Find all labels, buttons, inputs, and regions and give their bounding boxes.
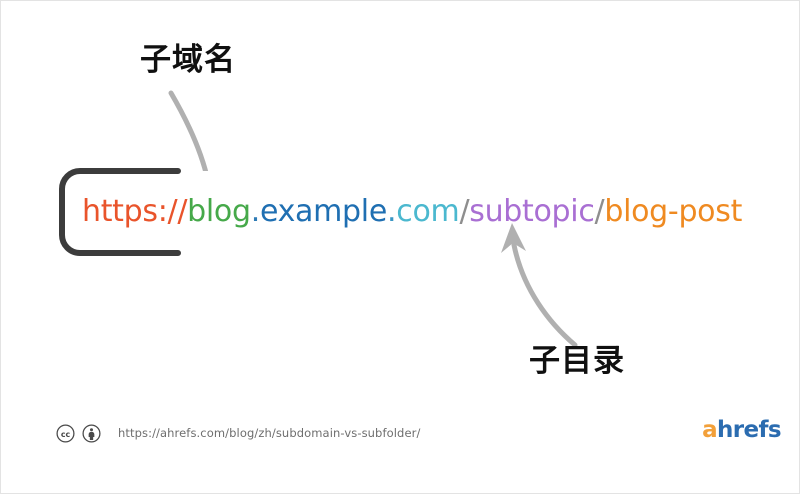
url-segment-subfolder: subtopic (469, 194, 594, 229)
url-segment-page: blog-post (604, 194, 742, 229)
url-segment-dot-1: . (251, 194, 260, 229)
url-segment-tld: com (396, 194, 459, 229)
url-segment-separator-1: / (459, 194, 469, 229)
url-segment-scheme: https:// (82, 194, 187, 229)
cc-icon: cc (56, 424, 75, 443)
annotation-label-subdirectory: 子目录 (529, 346, 625, 377)
diagram-canvas: 子域名 (0, 0, 800, 494)
url-bar-content: https://blog.example.com/subtopic/blog-p… (58, 167, 758, 257)
ahrefs-logo: ahrefs (702, 419, 781, 442)
cc-by-attribution-icon (82, 424, 101, 443)
url-segment-dot-2: . (387, 194, 396, 229)
annotation-label-subdomain: 子域名 (140, 45, 236, 76)
url-string: https://blog.example.com/subtopic/blog-p… (82, 197, 742, 227)
url-segment-separator-2: / (595, 194, 605, 229)
svg-text:cc: cc (61, 429, 71, 438)
logo-first-letter: a (702, 417, 717, 443)
footer: cc https://ahrefs.com/blog/zh/subdomain-… (56, 419, 769, 447)
source-url: https://ahrefs.com/blog/zh/subdomain-vs-… (118, 426, 420, 440)
url-segment-subdomain: blog (187, 194, 251, 229)
logo-wordmark: hrefs (717, 417, 781, 443)
url-bar: https://blog.example.com/subtopic/blog-p… (58, 167, 758, 257)
url-segment-domain: example (260, 194, 387, 229)
